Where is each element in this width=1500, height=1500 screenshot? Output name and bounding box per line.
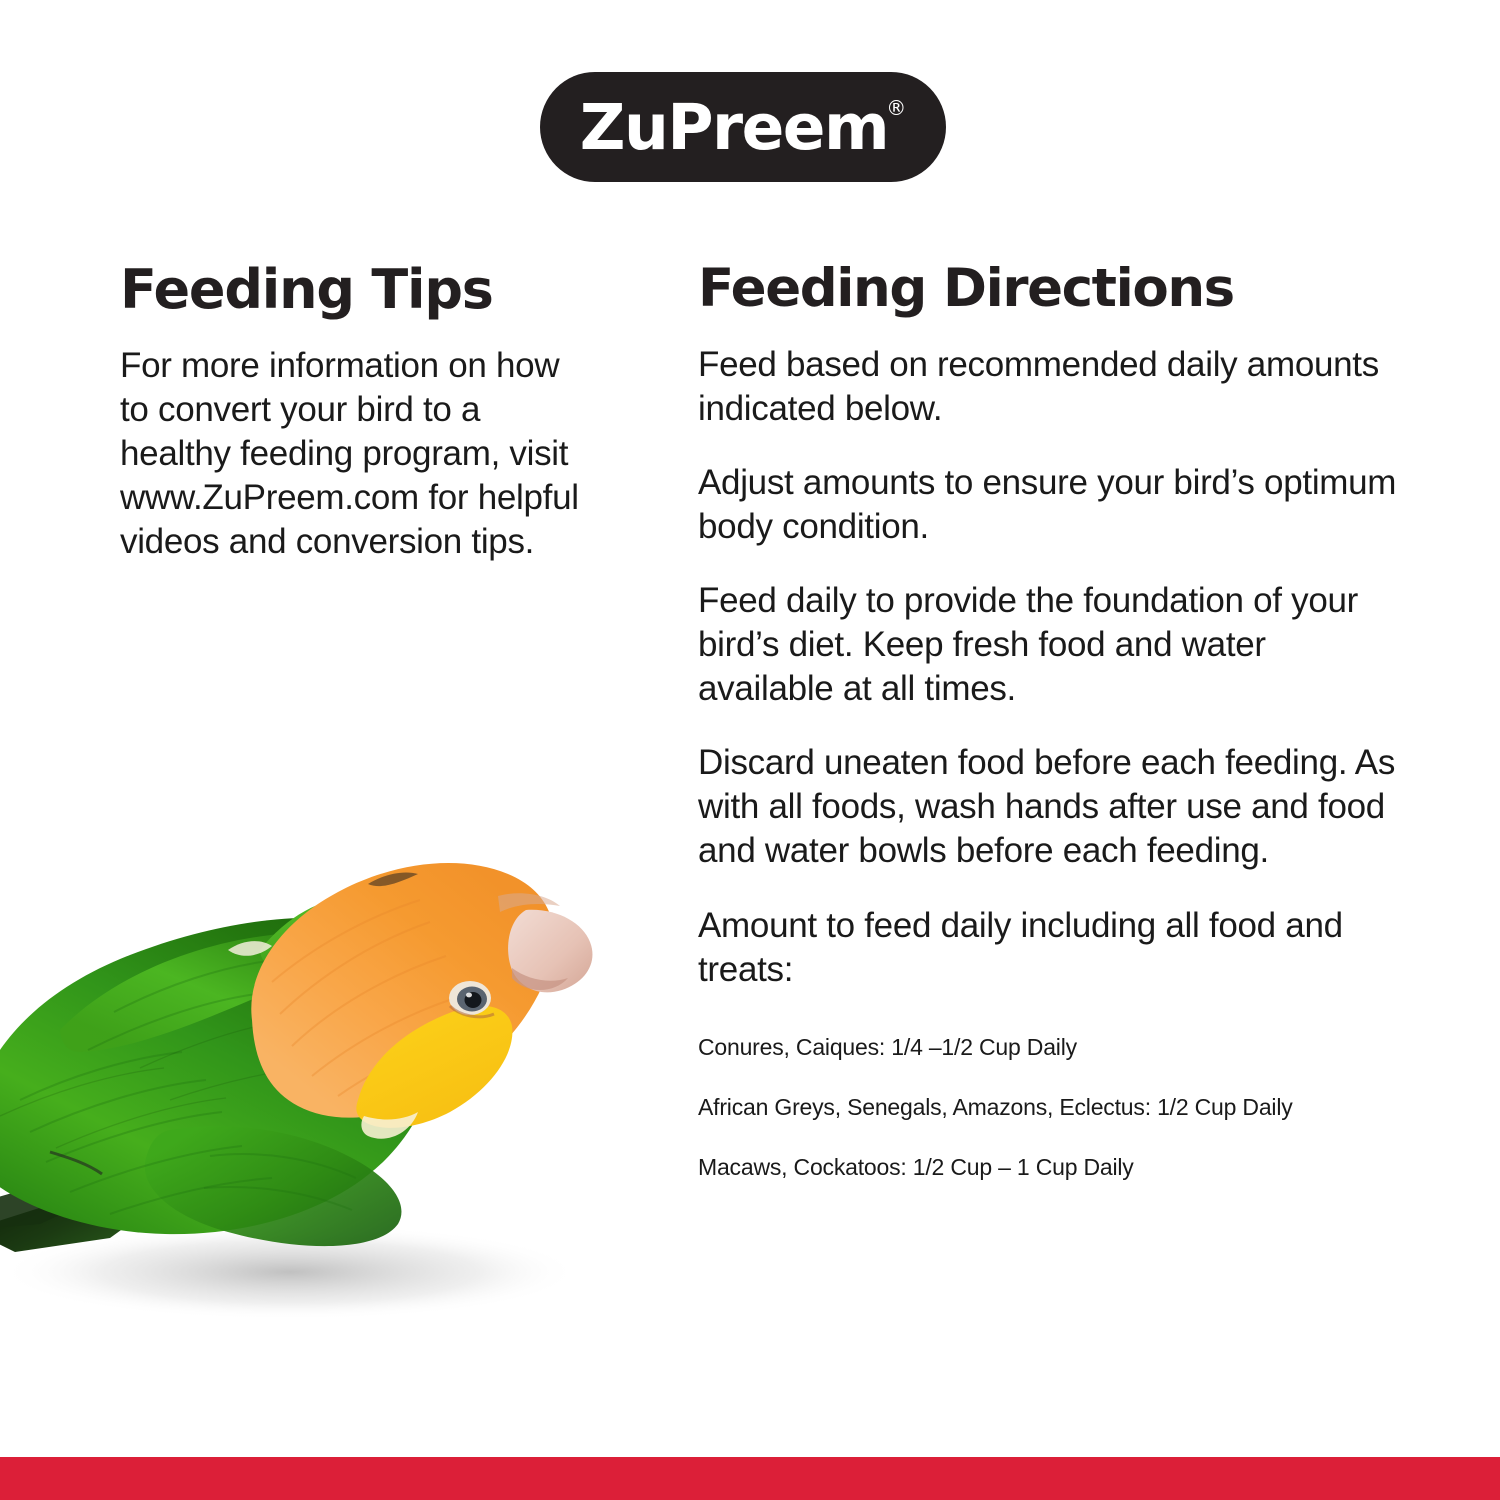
brand-logo: ZuPreem® (540, 72, 946, 182)
feeding-tips-heading: Feeding Tips (120, 262, 590, 318)
logo-pill: ZuPreem® (540, 72, 946, 182)
directions-paragraph-1: Feed based on recommended daily amounts … (698, 343, 1398, 431)
feeding-tips-paragraph: For more information on how to convert y… (120, 344, 590, 564)
feeding-amount-item: Macaws, Cockatoos: 1/2 Cup – 1 Cup Daily (698, 1152, 1398, 1182)
feeding-directions-section: Feeding Directions Feed based on recomme… (698, 262, 1398, 1183)
bottom-accent-bar (0, 1457, 1500, 1500)
caique-parrot-image (0, 800, 660, 1380)
directions-paragraph-4: Discard uneaten food before each feeding… (698, 741, 1398, 873)
feeding-amount-item: African Greys, Senegals, Amazons, Eclect… (698, 1092, 1398, 1122)
logo-wordmark-text: ZuPreem (580, 91, 888, 164)
feeding-tips-section: Feeding Tips For more information on how… (120, 262, 590, 564)
eye-catchlight (466, 993, 472, 998)
feeding-amount-item: Conures, Caiques: 1/4 –1/2 Cup Daily (698, 1032, 1398, 1062)
registered-trademark-icon: ® (886, 98, 906, 118)
feeding-amounts-list: Conures, Caiques: 1/4 –1/2 Cup Daily Afr… (698, 1032, 1398, 1183)
logo-wordmark: ZuPreem® (580, 96, 906, 159)
directions-paragraph-2: Adjust amounts to ensure your bird’s opt… (698, 461, 1398, 549)
directions-paragraph-5: Amount to feed daily including all food … (698, 904, 1398, 992)
product-label-panel: ZuPreem® Feeding Tips For more informati… (0, 0, 1500, 1500)
feeding-directions-heading: Feeding Directions (698, 262, 1398, 317)
directions-paragraph-3: Feed daily to provide the foundation of … (698, 579, 1398, 711)
